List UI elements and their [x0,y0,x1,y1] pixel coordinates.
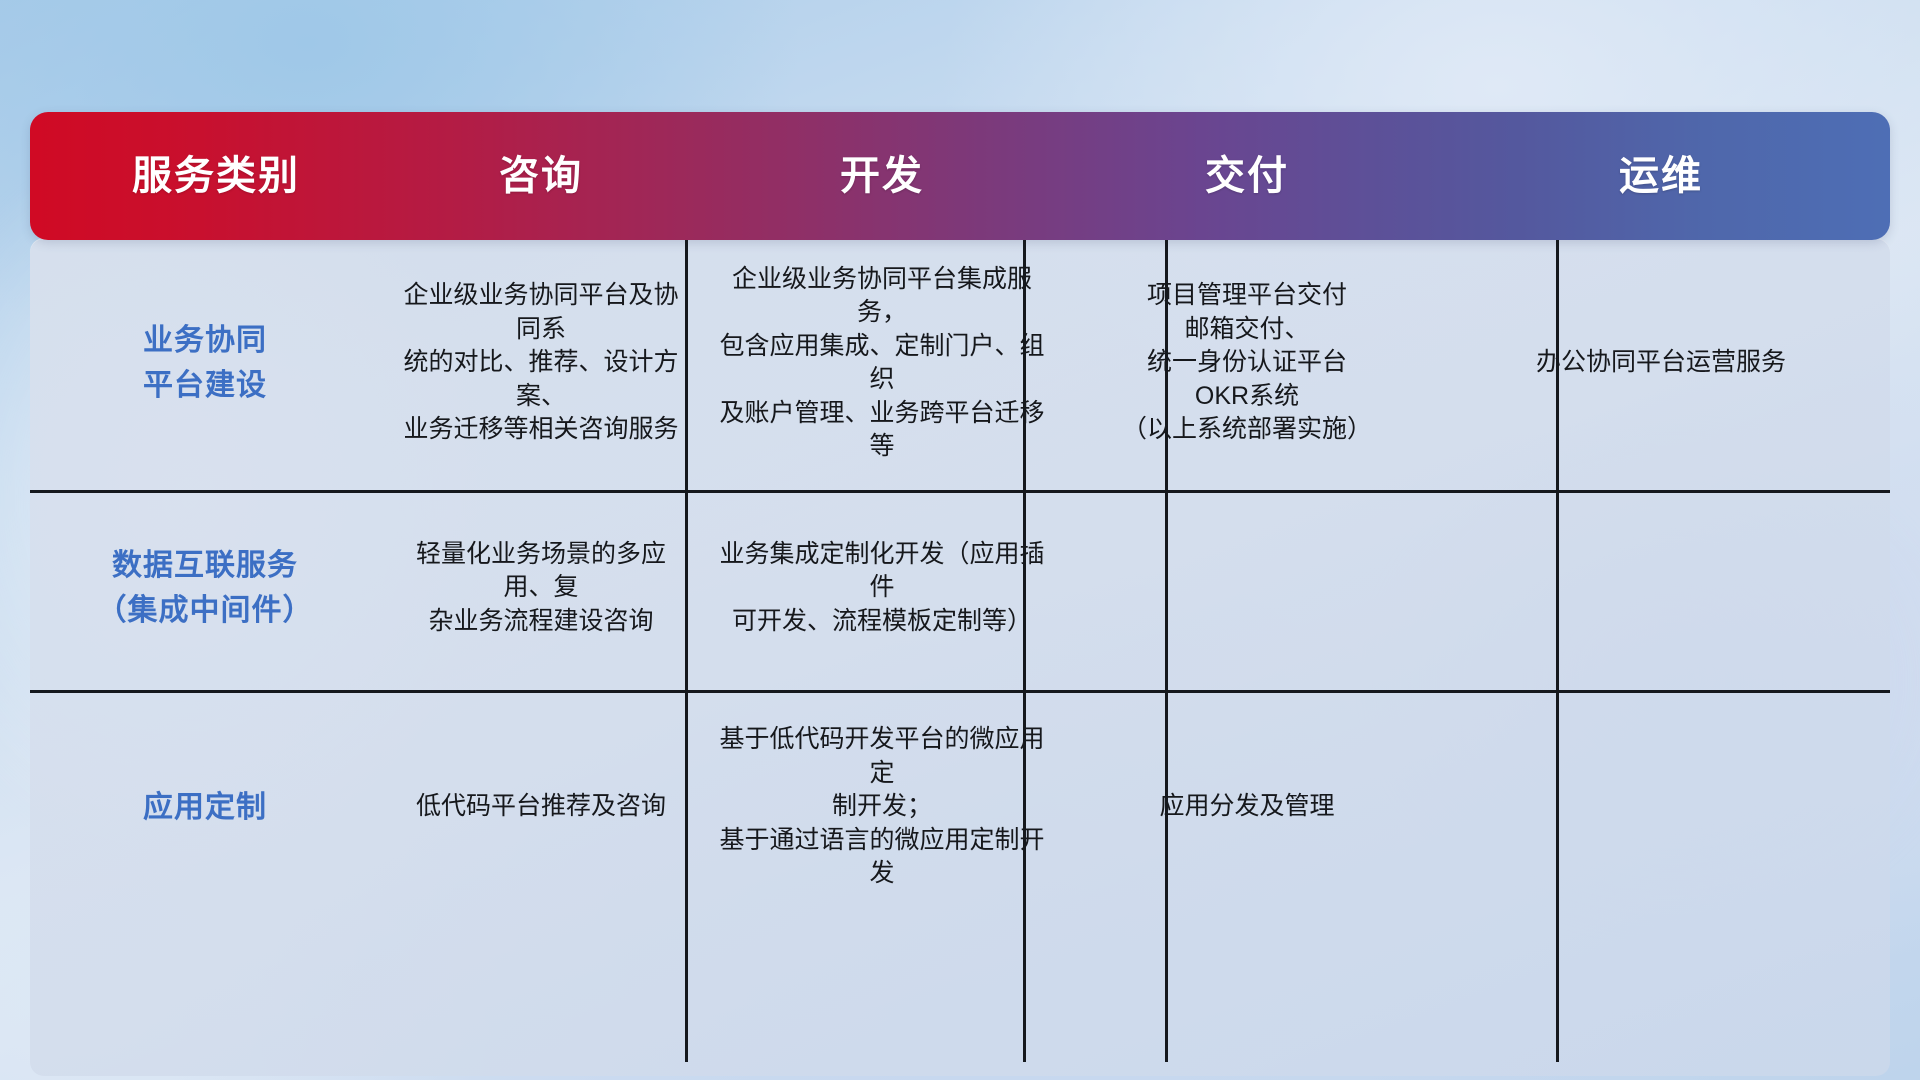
table-row: 数据互联服务 （集成中间件） 轻量化业务场景的多应用、复 杂业务流程建设咨询 业… [30,488,1890,688]
cell-consulting: 低代码平台推荐及咨询 [380,688,702,926]
service-matrix-table: 服务类别 咨询 开发 交付 运维 业务协同 平台建设 企业级业务协同平台及协同系… [30,112,1890,926]
cell-delivery: 应用分发及管理 [1062,688,1432,926]
table-body: 业务协同 平台建设 企业级业务协同平台及协同系 统的对比、推荐、设计方案、 业务… [30,238,1890,926]
cell-development: 企业级业务协同平台集成服务， 包含应用集成、定制门户、组织 及账户管理、业务跨平… [702,238,1062,488]
table-header-cell-delivery: 交付 [1062,156,1432,196]
table-header-cell-consulting: 咨询 [380,156,702,196]
table-vertical-divider-3 [1165,240,1168,1062]
table-horizontal-divider-1 [30,490,1890,493]
cell-development: 基于低代码开发平台的微应用定 制开发； 基于通过语言的微应用定制开发 [702,688,1062,926]
table-header-cell-operations: 运维 [1432,156,1890,196]
cell-operations: 办公协同平台运营服务 [1432,238,1890,488]
cell-delivery: 项目管理平台交付 邮箱交付、 统一身份认证平台 OKR系统 （以上系统部署实施） [1062,238,1432,488]
cell-consulting: 企业级业务协同平台及协同系 统的对比、推荐、设计方案、 业务迁移等相关咨询服务 [380,238,702,488]
cell-category: 业务协同 平台建设 [30,238,380,488]
table-row: 应用定制 低代码平台推荐及咨询 基于低代码开发平台的微应用定 制开发； 基于通过… [30,688,1890,926]
cell-operations [1432,488,1890,688]
cell-delivery [1062,488,1432,688]
table-row: 业务协同 平台建设 企业级业务协同平台及协同系 统的对比、推荐、设计方案、 业务… [30,238,1890,488]
cell-category: 应用定制 [30,688,380,926]
cell-operations [1432,688,1890,926]
cell-consulting: 轻量化业务场景的多应用、复 杂业务流程建设咨询 [380,488,702,688]
table-vertical-divider-4 [1556,240,1559,1062]
table-header-cell-development: 开发 [702,156,1062,196]
table-header-row: 服务类别 咨询 开发 交付 运维 [30,112,1890,240]
cell-development: 业务集成定制化开发（应用插件 可开发、流程模板定制等） [702,488,1062,688]
table-vertical-divider-2 [1023,240,1026,1062]
table-header-cell-category: 服务类别 [30,156,380,196]
table-horizontal-divider-2 [30,690,1890,693]
table-vertical-divider-1 [685,240,688,1062]
cell-category: 数据互联服务 （集成中间件） [30,488,380,688]
